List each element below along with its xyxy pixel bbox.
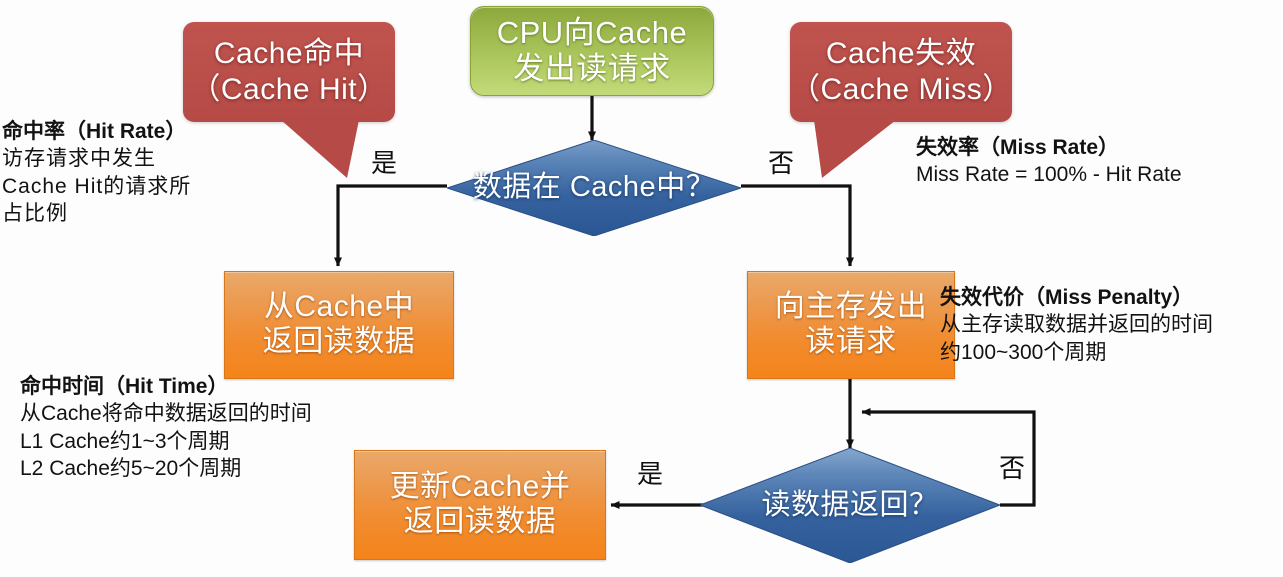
edge-label-yes-returned: 是 — [637, 461, 663, 487]
cache-hit-line-1: Cache命中 — [214, 37, 364, 70]
cache-miss-callout-tail — [800, 118, 920, 180]
annotation-miss-penalty: 失效代价（Miss Penalty） 从主存读取数据并返回的时间 约100~30… — [940, 285, 1213, 366]
cpu-read-request-line-2: 发出读请求 — [497, 51, 688, 87]
miss-rate-heading: 失效率（Miss Rate） — [916, 135, 1182, 161]
cache-miss-line-2: （Cache Miss） — [790, 73, 1013, 106]
request-to-main-memory-box[interactable]: 向主存发出 读请求 — [747, 271, 955, 379]
miss-rate-body-1: Miss Rate = 100% - Hit Rate — [916, 161, 1182, 188]
hit-time-body-3: L2 Cache约5~20个周期 — [20, 455, 312, 482]
data-returned-decision[interactable]: 读数据返回？ — [700, 448, 1000, 563]
hit-rate-body-2: Cache Hit的请求所 — [2, 173, 191, 200]
update-cache-line-2: 返回读数据 — [390, 505, 571, 540]
cache-hit-callout-body: Cache命中 （Cache Hit） — [183, 22, 395, 122]
cache-miss-callout[interactable]: Cache失效 （Cache Miss） — [790, 22, 1012, 122]
hit-rate-heading: 命中率（Hit Rate） — [2, 119, 191, 145]
decision1-line-1: 数据在 — [473, 171, 562, 203]
miss-request-line-1: 向主存发出 — [775, 290, 928, 325]
cache-miss-callout-body: Cache失效 （Cache Miss） — [790, 22, 1012, 122]
edge-label-yes-hit: 是 — [371, 150, 397, 176]
cpu-read-request-line-1: CPU向Cache — [497, 15, 688, 51]
annotation-miss-rate: 失效率（Miss Rate） Miss Rate = 100% - Hit Ra… — [916, 135, 1182, 189]
edge-yes-to-hit-box — [338, 186, 447, 266]
miss-penalty-heading: 失效代价（Miss Penalty） — [940, 285, 1213, 311]
data-in-cache-decision-text: 数据在 Cache中？ — [447, 140, 741, 236]
cache-hit-callout[interactable]: Cache命中 （Cache Hit） — [183, 22, 395, 122]
cache-miss-line-1: Cache失效 — [826, 37, 976, 70]
update-cache-line-1: 更新Cache并 — [390, 470, 571, 505]
hit-rate-body-1: 访存请求中发生 — [2, 145, 191, 172]
cache-hit-line-2: （Cache Hit） — [190, 73, 387, 106]
miss-request-line-2: 读请求 — [775, 325, 928, 360]
edge-label-no-returned: 否 — [999, 455, 1025, 481]
decision1-line-2: Cache中？ — [570, 171, 715, 203]
miss-penalty-body-2: 约100~300个周期 — [940, 339, 1213, 366]
return-data-from-cache-box[interactable]: 从Cache中 返回读数据 — [224, 271, 454, 379]
edge-label-no-miss: 否 — [768, 150, 794, 176]
hit-time-body-1: 从Cache将命中数据返回的时间 — [20, 400, 312, 427]
data-returned-decision-text: 读数据返回？ — [700, 448, 1000, 563]
decision2-line-1: 读数据返回？ — [761, 489, 938, 521]
data-in-cache-decision[interactable]: 数据在 Cache中？ — [447, 140, 741, 236]
flowchart-canvas: CPU向Cache 发出读请求 数据在 Cache中？ — [0, 0, 1283, 577]
hit-return-line-2: 返回读数据 — [263, 325, 416, 360]
hit-rate-body-3: 占比例 — [2, 200, 191, 227]
edge-no-to-miss-box — [741, 186, 850, 266]
annotation-hit-rate: 命中率（Hit Rate） 访存请求中发生 Cache Hit的请求所 占比例 — [2, 119, 191, 227]
hit-return-line-1: 从Cache中 — [263, 290, 416, 325]
hit-time-body-2: L1 Cache约1~3个周期 — [20, 428, 312, 455]
cpu-read-request-box[interactable]: CPU向Cache 发出读请求 — [470, 6, 714, 96]
hit-time-heading: 命中时间（Hit Time） — [20, 374, 312, 400]
annotation-hit-time: 命中时间（Hit Time） 从Cache将命中数据返回的时间 L1 Cache… — [20, 374, 312, 482]
update-cache-and-return-box[interactable]: 更新Cache并 返回读数据 — [354, 450, 606, 560]
miss-penalty-body-1: 从主存读取数据并返回的时间 — [940, 311, 1213, 338]
